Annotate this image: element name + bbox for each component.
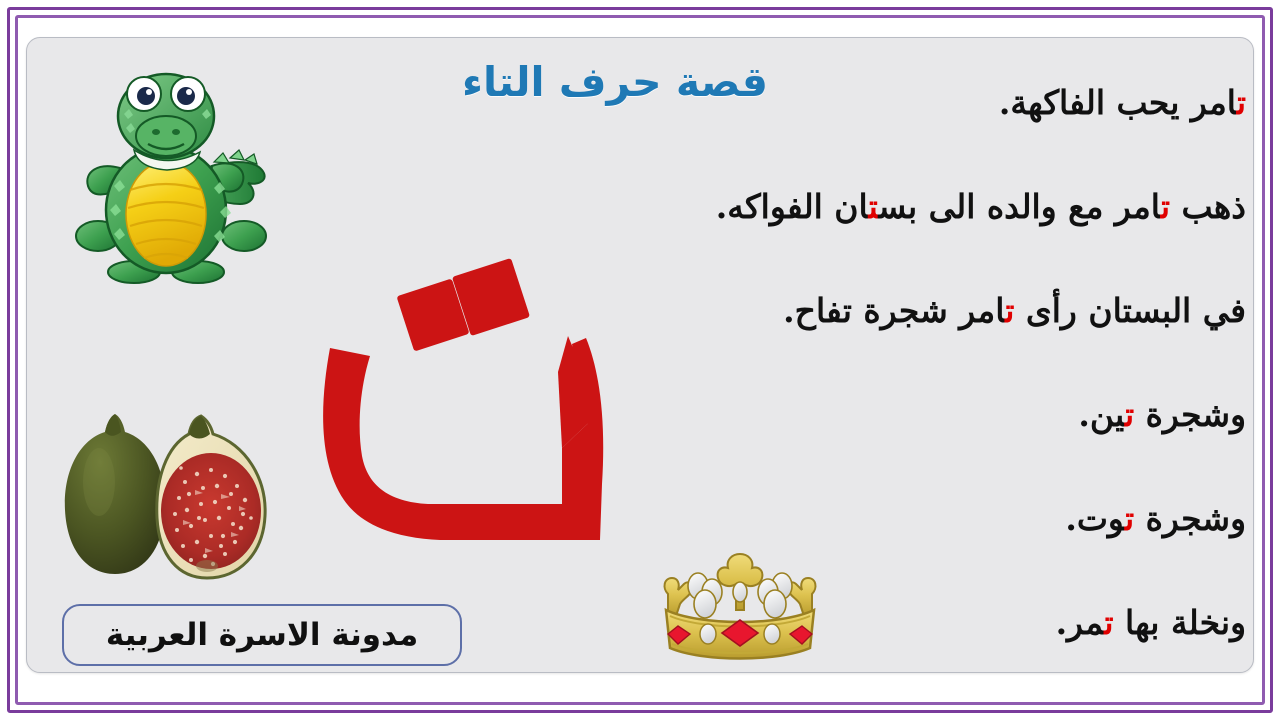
story-line-1: تامر يحب الفاكهة. (686, 74, 1246, 178)
story-text-block: تامر يحب الفاكهة. ذهب تامر مع والده الى … (686, 74, 1246, 698)
story-line-4: وشجرة تين. (686, 386, 1246, 490)
line2-mid: امر مع والده الى بس (879, 187, 1161, 226)
line2-highlight-2: ت (869, 187, 879, 226)
crocodile-illustration (62, 58, 277, 290)
line6-pre: ونخلة بها (1114, 603, 1246, 642)
line2-pre: ذهب (1170, 187, 1246, 226)
line1-post: امر يحب الفاكهة. (999, 83, 1237, 122)
line6-highlight: ت (1104, 603, 1113, 642)
line6-post: مر. (1056, 603, 1105, 642)
story-line-5: وشجرة توت. (686, 490, 1246, 594)
blog-badge: مدونة الاسرة العربية (62, 604, 462, 666)
story-line-2: ذهب تامر مع والده الى بستان الفواكه. (686, 178, 1246, 282)
line3-post: امر شجرة تفاح. (783, 291, 1005, 330)
line3-pre: في البستان رأى (1014, 291, 1246, 330)
line5-post: وت. (1065, 499, 1125, 538)
line4-pre: وشجرة (1134, 395, 1246, 434)
line2-post: ان الفواكه. (716, 187, 869, 226)
line4-highlight: ت (1125, 395, 1134, 434)
story-line-3: في البستان رأى تامر شجرة تفاح. (686, 282, 1246, 386)
line4-post: ين. (1078, 395, 1125, 434)
large-letter-taa (300, 252, 660, 562)
line2-highlight: ت (1161, 187, 1170, 226)
story-line-6: ونخلة بها تمر. (686, 594, 1246, 698)
line5-pre: وشجرة (1134, 499, 1246, 538)
line5-highlight: ت (1125, 499, 1134, 538)
blog-badge-label: مدونة الاسرة العربية (106, 617, 418, 653)
fig-illustration (55, 398, 287, 590)
line1-highlight: ت (1237, 83, 1246, 122)
poster-root: قصة حرف التاء (0, 0, 1280, 720)
